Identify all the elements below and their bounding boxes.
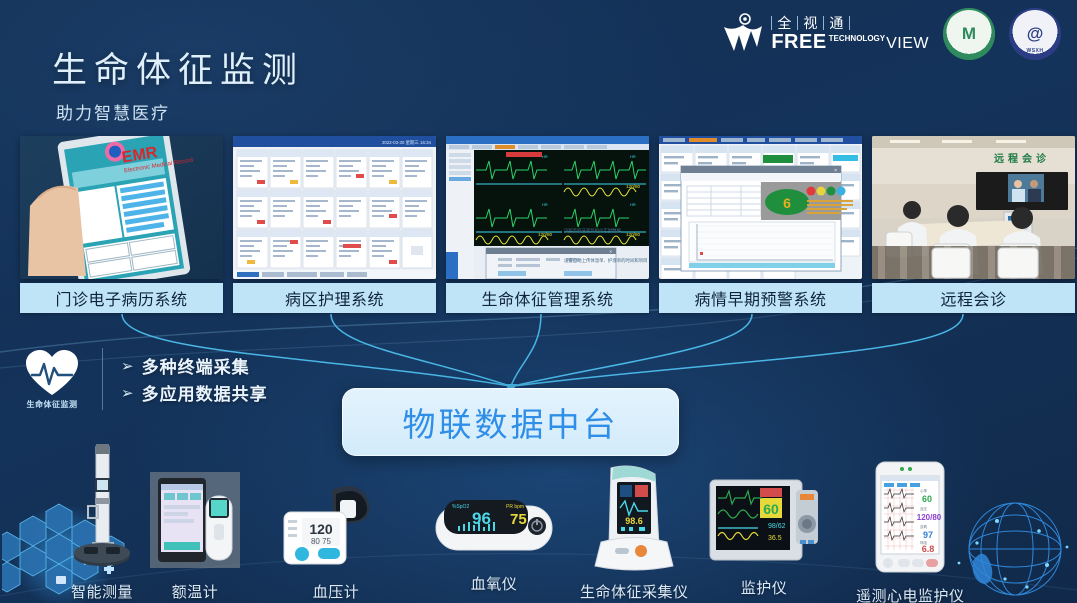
- page-subtitle: 助力智慧医疗: [56, 99, 170, 124]
- svg-text:120/80: 120/80: [626, 184, 640, 189]
- svg-text:HR: HR: [542, 202, 548, 207]
- device-label-vital-collector: 生命体征采集仪: [580, 581, 689, 602]
- data-hub-box[interactable]: 物联数据中台: [342, 388, 679, 456]
- device-label-patient-monitor: 监护仪: [741, 577, 788, 598]
- device-label-smart-measure: 智能测量: [71, 581, 133, 602]
- heartbeat-icon: [24, 349, 80, 397]
- feature-bullet-1: ➢ 多种终端采集: [121, 353, 268, 378]
- chevron-right-icon: ➢: [121, 357, 135, 375]
- svg-text:×: ×: [609, 249, 612, 254]
- svg-text:120/80: 120/80: [626, 232, 640, 237]
- svg-text:80 75: 80 75: [311, 537, 332, 546]
- svg-text:HR: HR: [630, 154, 636, 159]
- svg-text:血氧: 血氧: [920, 524, 928, 529]
- freeview-bird-icon: [721, 13, 765, 55]
- device-pulse-oximeter[interactable]: 96 75 %SpO2 PR bpm 血氧仪: [432, 494, 556, 594]
- device-smart-measure[interactable]: 智能测量: [62, 444, 142, 602]
- svg-text:PR bpm: PR bpm: [506, 504, 524, 510]
- svg-text:120/80: 120/80: [917, 513, 942, 522]
- svg-text:98/62: 98/62: [768, 523, 786, 530]
- svg-text:36.5: 36.5: [768, 535, 782, 542]
- svg-text:心率: 心率: [920, 488, 928, 493]
- svg-text:HR: HR: [630, 202, 636, 207]
- svg-text:6: 6: [783, 195, 791, 211]
- patient-monitor-icon: 60 98/62 36.5: [708, 476, 820, 573]
- svg-text:远程会诊: 远程会诊: [994, 152, 1050, 165]
- height-weight-kiosk-icon: [62, 444, 142, 577]
- brand-en-main: FREE: [771, 32, 826, 52]
- svg-text:120: 120: [309, 521, 333, 537]
- logo-group: 全 视 通 FREE TECHNOLOGY VIEW M @ WSXH: [721, 8, 1061, 60]
- device-vital-collector[interactable]: 98.6 生命体征采集仪: [580, 462, 689, 602]
- green-association-seal: M: [943, 8, 995, 60]
- svg-text:%SpO2: %SpO2: [452, 504, 469, 510]
- thumb-remote-consultation[interactable]: 远程会诊: [872, 136, 1075, 279]
- forehead-thermometer-icon: [150, 472, 240, 577]
- device-label-forehead-thermometer: 额温计: [172, 581, 219, 602]
- device-patient-monitor[interactable]: 60 98/62 36.5: [708, 476, 820, 598]
- device-label-telemetry-ecg: 遥测心电监护仪: [856, 585, 965, 603]
- blue-association-seal: @ WSXH: [1009, 8, 1061, 60]
- device-label-blood-pressure: 血压计: [313, 581, 360, 602]
- feature-bullets: ➢ 多种终端采集 ➢ 多应用数据共享: [121, 353, 268, 405]
- brand-char-2: 视: [797, 16, 823, 30]
- svg-text:120/80: 120/80: [538, 232, 552, 237]
- feature-block: 生命体征监测 ➢ 多种终端采集 ➢ 多应用数据共享: [20, 348, 268, 410]
- svg-text:设置自动上传体温单、护理单的时间和项目: 设置自动上传体温单、护理单的时间和项目: [564, 257, 647, 264]
- device-telemetry-ecg[interactable]: 心率 60 血压 120/80 血氧 97 呼吸 6.8 遥测心电监护仪: [856, 460, 965, 603]
- svg-text:60: 60: [922, 494, 932, 504]
- feature-bullet-1-label: 多种终端采集: [142, 353, 250, 378]
- blue-seal-core: @: [1027, 24, 1044, 44]
- system-thumbnail-row: EMR Electronic Medical Record 2022-03-30…: [20, 136, 1075, 279]
- brand-en-sub: VIEW: [886, 36, 929, 52]
- brand-en-super: TECHNOLOGY: [829, 35, 885, 43]
- svg-text:血压: 血压: [920, 506, 928, 511]
- feature-divider: [102, 348, 103, 410]
- svg-text:97: 97: [923, 530, 933, 540]
- thumb-emr-tablet[interactable]: EMR Electronic Medical Record: [20, 136, 223, 279]
- svg-text:远程监控床旁监护仪实时数据: 远程监控床旁监护仪实时数据: [564, 227, 622, 234]
- heartbeat-icon-caption: 生命体征监测: [27, 399, 78, 410]
- brand-chinese-name: 全 视 通: [771, 16, 929, 30]
- thumb-vital-signs-system[interactable]: HRHR HRHR 120/80120/80120/80 × 远程监控: [446, 136, 649, 279]
- pulse-oximeter-icon: 96 75 %SpO2 PR bpm: [432, 494, 556, 569]
- brand-char-3: 通: [823, 16, 850, 30]
- heartbeat-icon-wrap: 生命体征监测: [20, 349, 84, 410]
- vital-signs-collector-icon: 98.6: [591, 462, 677, 577]
- telemetry-ecg-monitor-icon: 心率 60 血压 120/80 血氧 97 呼吸 6.8: [864, 460, 956, 581]
- device-forehead-thermometer[interactable]: 额温计: [150, 472, 240, 602]
- slide-canvas: 生命体征监测 助力智慧医疗 全 视 通 FREE TECHNOLOGY: [0, 0, 1077, 603]
- green-seal-core: M: [962, 24, 976, 44]
- blood-pressure-monitor-icon: 120 80 75: [282, 474, 390, 577]
- data-hub-label: 物联数据中台: [403, 398, 619, 446]
- device-label-pulse-oximeter: 血氧仪: [471, 573, 518, 594]
- svg-text:6.8: 6.8: [922, 544, 935, 554]
- svg-text:98.6: 98.6: [625, 516, 643, 526]
- blue-seal-micro-text: WSXH: [1009, 48, 1061, 54]
- thumb-early-warning[interactable]: × 6: [659, 136, 862, 279]
- device-blood-pressure[interactable]: 120 80 75 血压计: [282, 474, 390, 602]
- device-row: 智能测量 额温计: [0, 452, 1077, 603]
- svg-text:60: 60: [763, 501, 779, 517]
- brand-english-name: FREE TECHNOLOGY VIEW: [771, 32, 929, 52]
- chevron-right-icon: ➢: [121, 384, 135, 402]
- brand-char-1: 全: [771, 16, 797, 30]
- feature-bullet-2: ➢ 多应用数据共享: [121, 380, 268, 405]
- svg-text:75: 75: [510, 511, 527, 528]
- svg-text:HR: HR: [542, 154, 548, 159]
- thumb-ward-nursing[interactable]: 2022-03-30 星期三 16:34: [233, 136, 436, 279]
- feature-bullet-2-label: 多应用数据共享: [142, 380, 268, 405]
- page-title: 生命体征监测: [52, 42, 304, 93]
- freeview-logo: 全 视 通 FREE TECHNOLOGY VIEW: [721, 13, 929, 55]
